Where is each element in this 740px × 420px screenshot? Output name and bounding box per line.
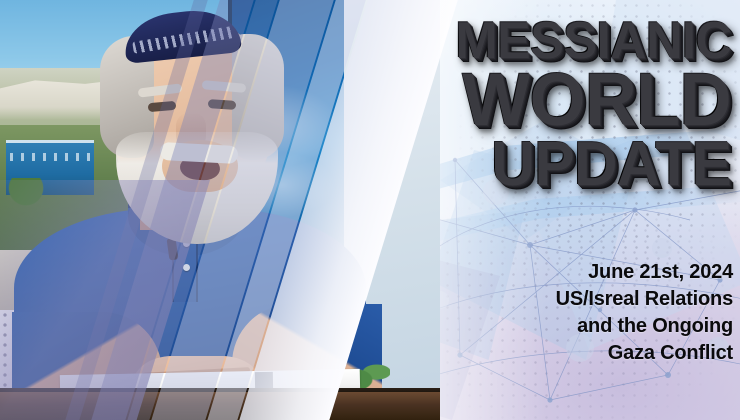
episode-topic-line: US/Isreal Relations	[556, 289, 733, 309]
episode-topic-line: and the Ongoing	[577, 316, 733, 336]
episode-date: June 21st, 2024	[588, 262, 733, 282]
title-line-world: WORLD	[461, 62, 730, 136]
title-line-update: UPDATE	[490, 133, 730, 195]
title-block: MESSIANIC WORLD UPDATE June 21st, 2024 U…	[0, 0, 740, 420]
episode-topic-line: Gaza Conflict	[608, 343, 733, 363]
broadcast-title-card: MESSIANIC WORLD UPDATE June 21st, 2024 U…	[0, 0, 740, 420]
